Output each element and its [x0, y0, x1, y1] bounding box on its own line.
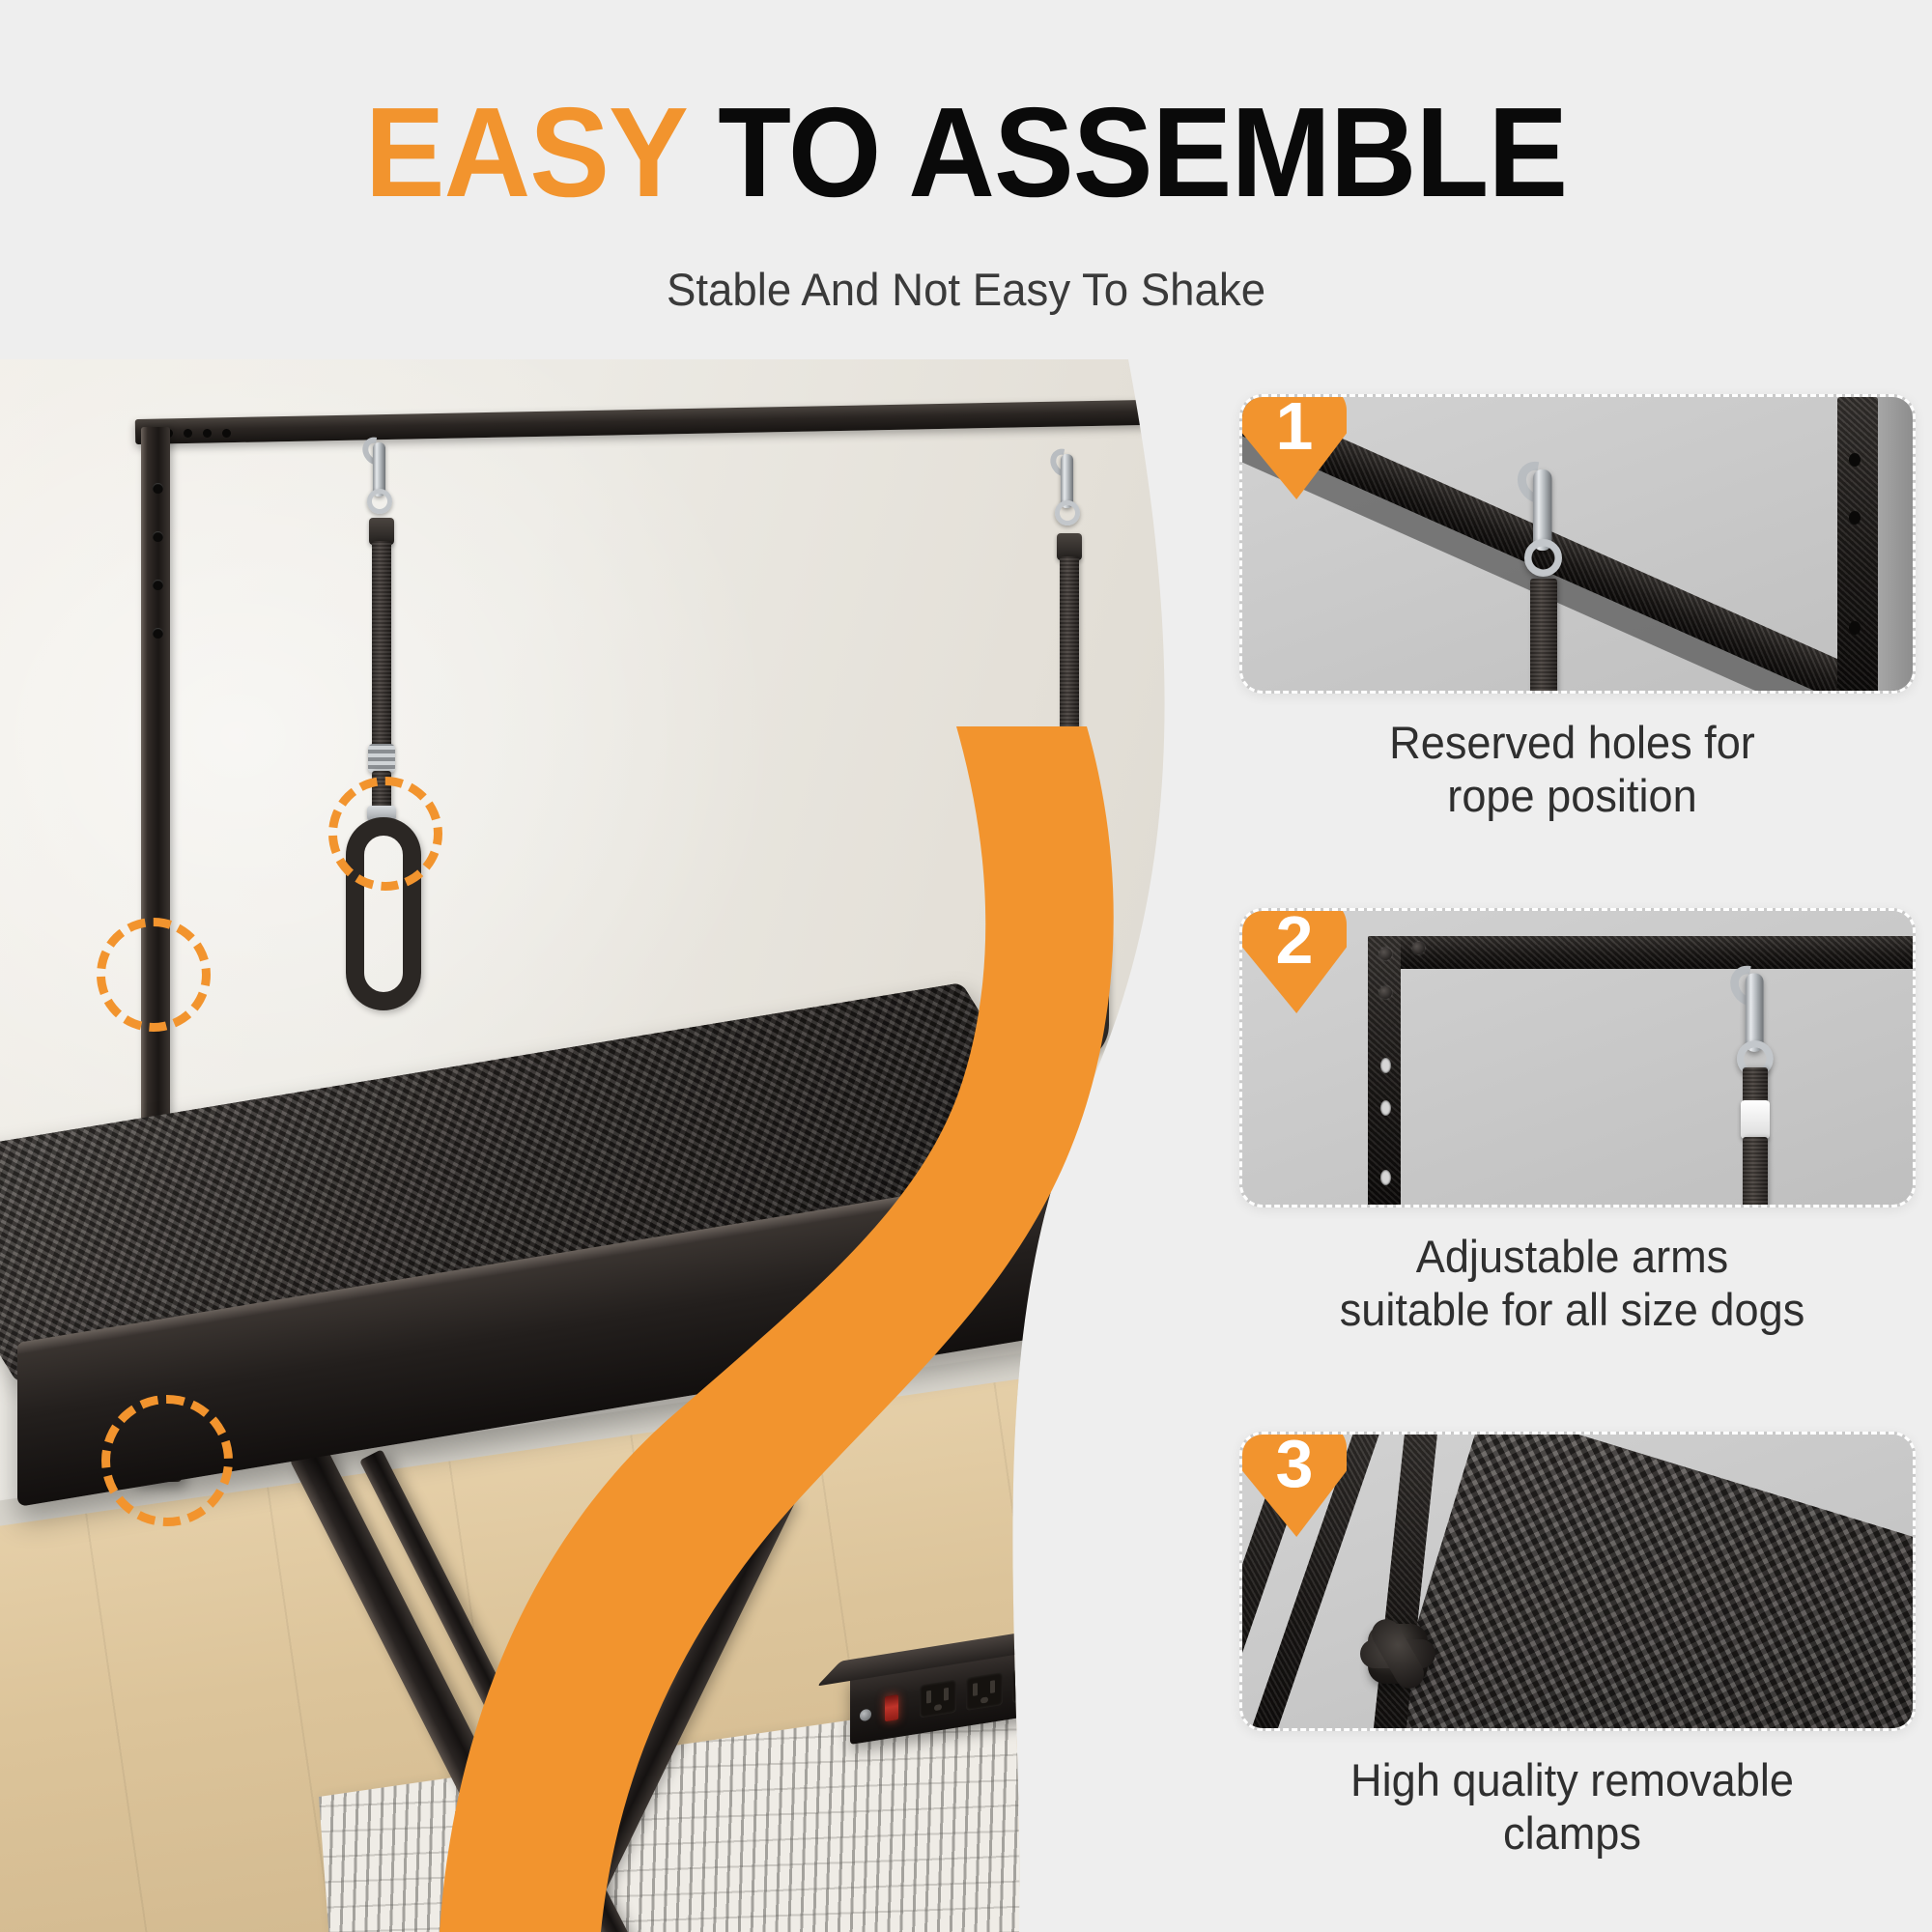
- panel-2-hole-2: [1380, 1100, 1391, 1116]
- panel-1-strap: [1530, 579, 1557, 694]
- callout-3-caption: High quality removable clamps: [1227, 1754, 1918, 1860]
- title-highlight-word: EASY: [365, 81, 686, 223]
- page-title: EASY TO ASSEMBLE: [58, 89, 1874, 216]
- strap-loop-right: [1034, 908, 1109, 1063]
- usb-port-1: [1059, 1656, 1080, 1670]
- panel-1-hole-1: [1849, 453, 1861, 467]
- callout-1-caption: Reserved holes for rope position: [1227, 717, 1918, 822]
- power-switch[interactable]: [885, 1694, 898, 1721]
- panel-2-horizontal-bar: [1368, 936, 1916, 969]
- callout-2-image: 2: [1239, 908, 1916, 1207]
- snap-hook-right: [1055, 444, 1080, 520]
- callout-2: 2 Adjustable arms suitable for all size …: [1212, 908, 1932, 1336]
- callout-1: 1 Reserved holes for rope position: [1212, 394, 1932, 822]
- hero-photo-clip: [0, 359, 1188, 1932]
- panel-1-hole-2: [1849, 511, 1861, 525]
- panel-2-screw-2: [1412, 942, 1425, 954]
- panel-2-strap-slider: [1741, 1100, 1770, 1139]
- callout-2-caption: Adjustable arms suitable for all size do…: [1227, 1231, 1918, 1336]
- ac-outlet-1: [920, 1680, 956, 1719]
- page-subtitle: Stable And Not Easy To Shake: [29, 263, 1903, 316]
- callout-3-caption-line1: High quality removable: [1227, 1754, 1918, 1807]
- snap-hook-left: [367, 433, 392, 508]
- panel-2-hole-3: [1380, 1170, 1391, 1185]
- panel-2-strap-upper: [1743, 1067, 1768, 1104]
- strap-rings-right: [1056, 835, 1083, 864]
- panel-2-screw-1: [1379, 948, 1392, 960]
- callout-2-caption-line1: Adjustable arms: [1227, 1231, 1918, 1284]
- header-banner: EASY TO ASSEMBLE Stable And Not Easy To …: [0, 0, 1932, 359]
- callout-1-caption-line1: Reserved holes for: [1227, 717, 1918, 770]
- usb-port-2: [1059, 1673, 1080, 1688]
- panel-1-post-side: [1874, 397, 1913, 694]
- ac-outlet-2: [966, 1672, 1003, 1711]
- callout-1-caption-line2: rope position: [1227, 770, 1918, 823]
- callout-3: 3 High quality removable clamps: [1212, 1432, 1932, 1860]
- strap-band-right: [1060, 556, 1079, 846]
- reserved-holes-highlight: [97, 918, 211, 1032]
- snap-hook-highlight: [328, 777, 442, 891]
- panel-1-hole-3: [1849, 621, 1861, 635]
- panel-1-snap-hook: [1524, 455, 1562, 568]
- callout-1-image: 1: [1239, 394, 1916, 694]
- panel-3-clamp-knob: [1368, 1624, 1428, 1684]
- panel-2-strap-lower: [1743, 1137, 1768, 1207]
- strap-rings-left: [368, 744, 395, 773]
- callout-2-caption-line2: suitable for all size dogs: [1227, 1284, 1918, 1337]
- title-rest: TO ASSEMBLE: [686, 81, 1568, 223]
- callout-3-image: 3: [1239, 1432, 1916, 1731]
- strap-band-right-lower: [1060, 862, 1079, 900]
- ac-outlet-3: [1012, 1664, 1049, 1703]
- power-strip-screw-right: [1092, 1662, 1103, 1676]
- arm-top-holes: [164, 423, 232, 442]
- callout-3-caption-line2: clamps: [1227, 1807, 1918, 1861]
- leg-pivot-bolt-upper: [541, 1868, 574, 1901]
- panel-1-vertical-post: [1837, 397, 1878, 694]
- strap-band-left: [372, 541, 391, 753]
- panel-2-snap-hook: [1737, 959, 1774, 1068]
- clamp-knob-highlight: [101, 1395, 233, 1526]
- panel-2-screw-3: [1379, 986, 1392, 999]
- panel-2-hole-1: [1380, 1058, 1391, 1073]
- hero-product-photo: [0, 359, 1188, 1932]
- power-strip-screw-left: [860, 1709, 871, 1722]
